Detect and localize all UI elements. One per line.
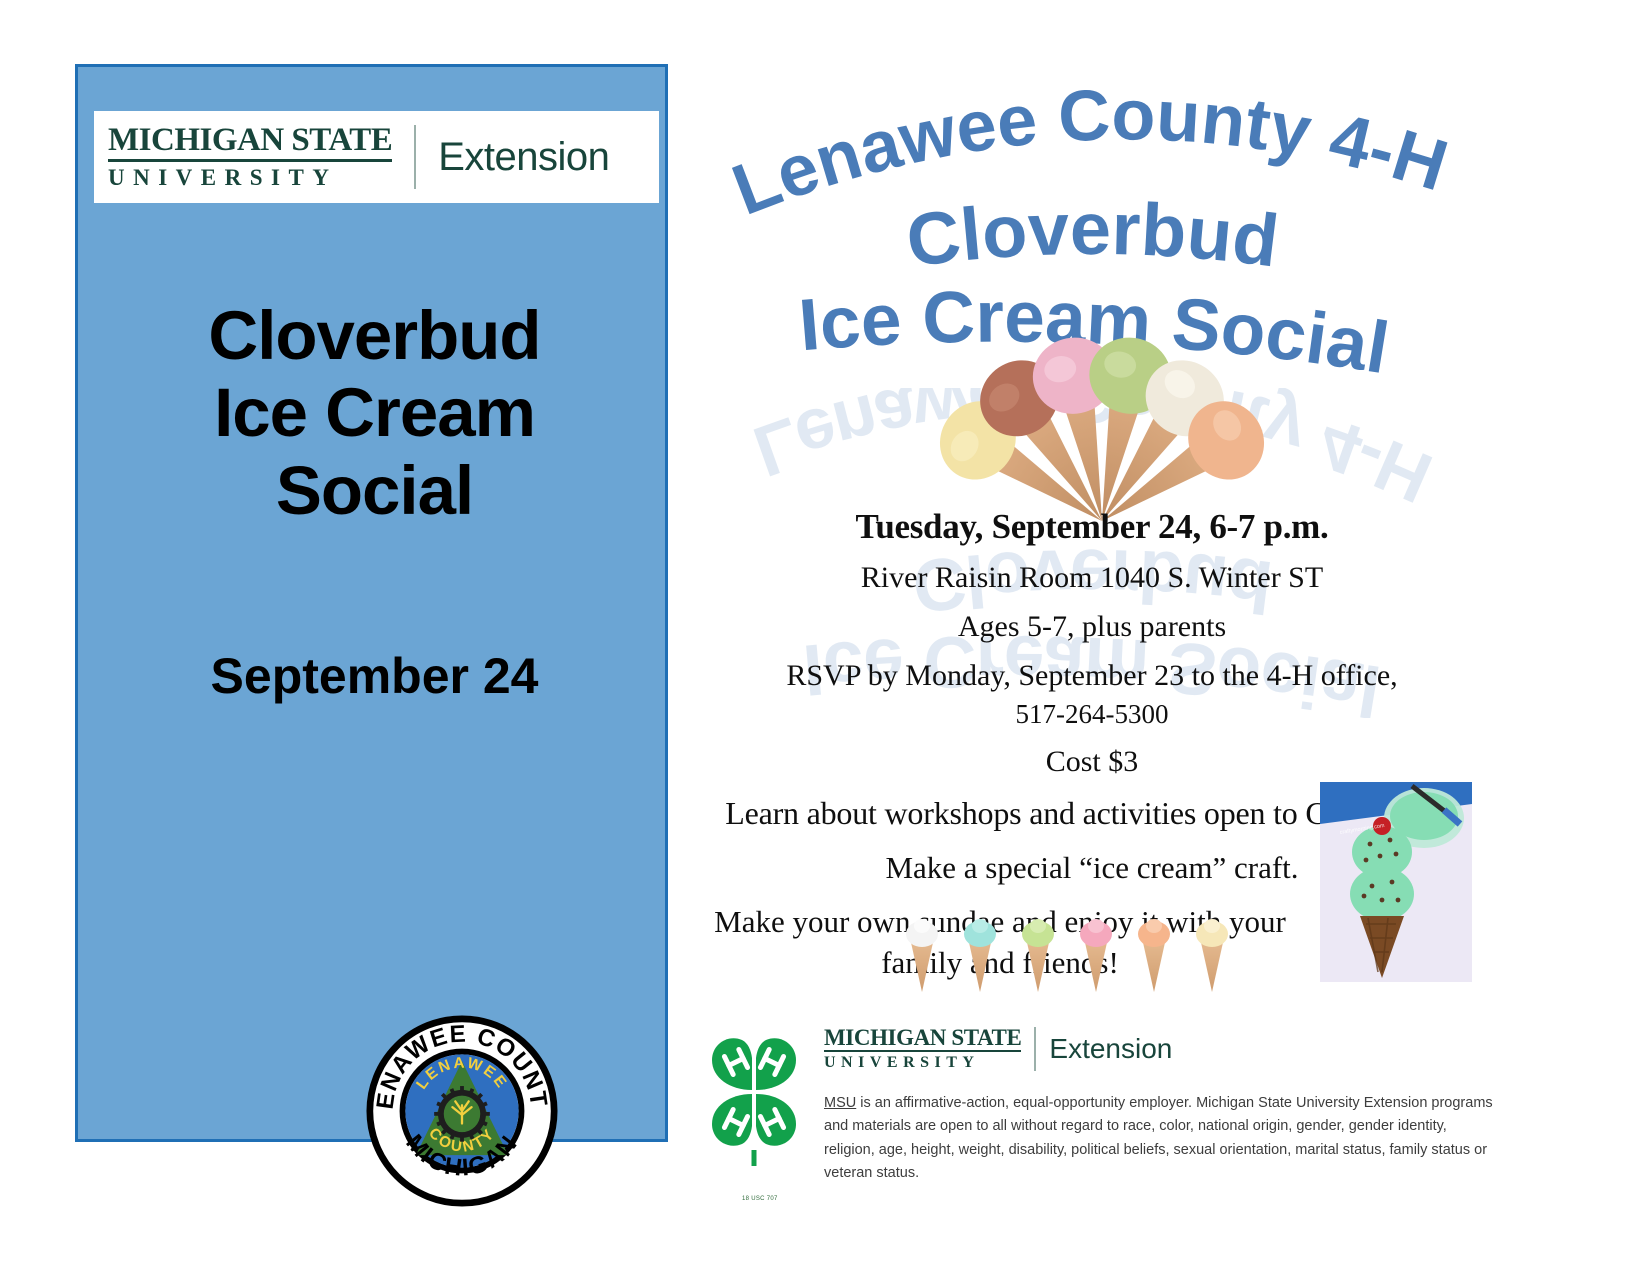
disclaimer-body: is an affirmative-action, equal-opportun…: [824, 1095, 1493, 1181]
flyer-footer: 18 USC 707 MICHIGAN STATE UNIVERSITY Ext…: [672, 996, 1512, 1181]
flyer-page: MICHIGAN STATE UNIVERSITY Extension Clov…: [0, 0, 1650, 1275]
page-subtitle: September 24: [98, 647, 651, 705]
lenawee-county-seal-icon: LENAWEE COUNTY MICHIGAN LENAWEE COUNTY: [366, 1015, 558, 1207]
logo-divider: [414, 125, 416, 189]
small-cone-row-icon: [900, 886, 1260, 996]
disclaimer-msu-prefix: MSU: [824, 1095, 856, 1111]
ice-cream-cone-fan-icon: [822, 231, 1382, 531]
msu-extension-label: Extension: [438, 135, 609, 180]
title-line-2: Ice Cream: [98, 374, 651, 451]
msu-wordmark: MICHIGAN STATE UNIVERSITY: [108, 124, 392, 190]
footer-logo-divider: [1034, 1027, 1036, 1071]
flyer-graphic: Lenawee County 4-H Cloverbud Ice Cream S…: [672, 36, 1512, 1181]
svg-text:Lenawee County 4-H: Lenawee County 4-H: [722, 75, 1456, 231]
footer-msu-wordmark: MICHIGAN STATE UNIVERSITY: [824, 1026, 1021, 1072]
msu-extension-logo: MICHIGAN STATE UNIVERSITY Extension: [94, 111, 659, 203]
msu-line2: UNIVERSITY: [108, 162, 392, 190]
left-panel: MICHIGAN STATE UNIVERSITY Extension Clov…: [75, 64, 668, 1142]
event-phone: 517-264-5300: [680, 697, 1504, 732]
footer-msu-line1: MICHIGAN STATE: [824, 1026, 1021, 1052]
event-ages: Ages 5-7, plus parents: [680, 607, 1504, 646]
footer-msu-line2: UNIVERSITY: [824, 1052, 1021, 1072]
page-title: Cloverbud Ice Cream Social: [98, 297, 651, 529]
msu-line1: MICHIGAN STATE: [108, 124, 392, 162]
footer-msu-extension-label: Extension: [1049, 1033, 1172, 1065]
mint-ice-cream-craft-photo: craftymorning.com: [1320, 782, 1472, 982]
event-cost: Cost $3: [680, 742, 1504, 781]
title-line-1: Cloverbud: [98, 297, 651, 374]
disclaimer-text: MSU is an affirmative-action, equal-oppo…: [824, 1092, 1500, 1186]
footer-msu-extension-logo: MICHIGAN STATE UNIVERSITY Extension: [824, 1026, 1172, 1072]
title-line-3: Social: [98, 452, 651, 529]
four-h-clover-icon: 18 USC 707: [690, 1028, 818, 1168]
event-rsvp: RSVP by Monday, September 23 to the 4-H …: [680, 656, 1504, 695]
event-location: River Raisin Room 1040 S. Winter ST: [680, 558, 1504, 597]
msu-logo-lockup: MICHIGAN STATE UNIVERSITY Extension: [94, 111, 609, 203]
event-datetime: Tuesday, September 24, 6-7 p.m.: [680, 504, 1504, 550]
clover-usc-code: 18 USC 707: [742, 1196, 778, 1202]
